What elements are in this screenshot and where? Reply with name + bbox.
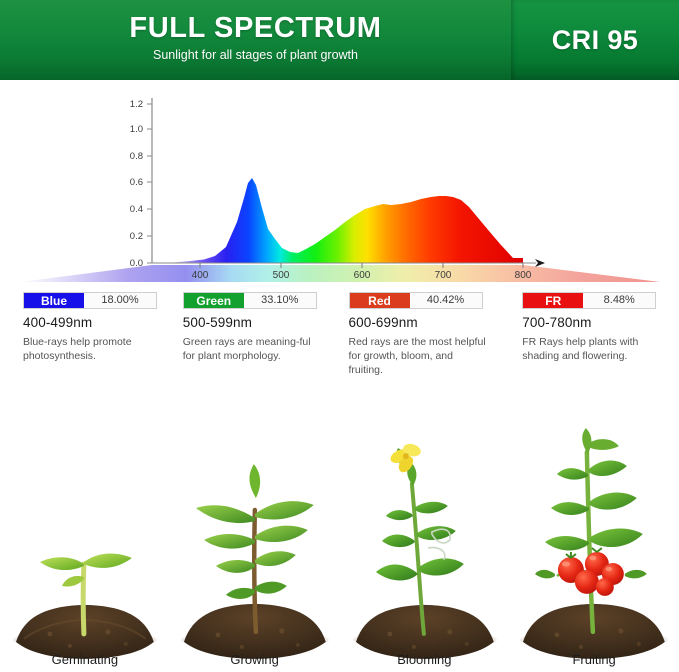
legend-range: 600-699nm [349,316,502,331]
seedling-icon [0,422,170,672]
young-plant-icon [170,422,340,672]
svg-text:0.6: 0.6 [130,177,143,188]
stage-blooming: Blooming [340,372,510,672]
legend-description: Green rays are meaning-ful for plant mor… [183,335,321,363]
badge-percent: 18.00% [84,293,156,308]
stage-fruiting: Fruiting [509,372,679,672]
badge-blue: Blue 18.00% [23,292,157,309]
legend-description: Blue-rays help promote photosynthesis. [23,335,161,363]
stage-label: Blooming [340,653,510,666]
header-banner: FULL SPECTRUM Sunlight for all stages of… [0,0,679,80]
y-axis-ticks: 0.0 0.2 0.4 0.6 0.8 1.0 1.2 [130,99,152,269]
badge-label: Green [184,293,244,308]
header-title-panel: FULL SPECTRUM Sunlight for all stages of… [0,0,511,80]
cri-value: CRI 95 [552,25,638,56]
legend-item-blue: Blue 18.00% 400-499nm Blue-rays help pro… [0,292,170,370]
badge-label: Red [350,293,410,308]
legend-item-red: Red 40.42% 600-699nm Red rays are the mo… [340,292,510,370]
badge-fr: FR 8.48% [522,292,656,309]
badge-label: Blue [24,293,84,308]
wavelength-legend: Blue 18.00% 400-499nm Blue-rays help pro… [0,292,679,370]
legend-item-green: Green 33.10% 500-599nm Green rays are me… [170,292,340,370]
legend-item-fr: FR 8.48% 700-780nm FR Rays help plants w… [509,292,679,370]
stage-geminating: Geminating [0,372,170,672]
page-subtitle: Sunlight for all stages of plant growth [153,49,358,62]
stage-label: Geminating [0,653,170,666]
flowering-plant-icon [340,422,510,672]
svg-text:700: 700 [435,270,452,281]
legend-range: 500-599nm [183,316,332,331]
badge-percent: 33.10% [244,293,316,308]
spectrum-chart: 0.0 0.2 0.4 0.6 0.8 1.0 1.2 400 500 600 … [0,82,679,282]
growth-stages: Geminating [0,372,679,672]
cri-panel: CRI 95 [511,0,679,80]
svg-text:500: 500 [273,270,290,281]
spectrum-wedge [20,265,660,282]
stage-label: Fruiting [509,653,679,666]
stage-label: Growing [170,653,340,666]
svg-text:0.2: 0.2 [130,231,143,242]
svg-text:1.2: 1.2 [130,99,143,110]
svg-text:800: 800 [515,270,532,281]
svg-text:0.8: 0.8 [130,151,143,162]
badge-percent: 8.48% [583,293,655,308]
svg-text:1.0: 1.0 [130,124,143,135]
spectrum-chart-svg: 0.0 0.2 0.4 0.6 0.8 1.0 1.2 400 500 600 … [0,82,679,282]
svg-text:400: 400 [192,270,209,281]
badge-percent: 40.42% [410,293,482,308]
legend-description: FR Rays help plants with shading and flo… [522,335,660,363]
legend-description: Red rays are the most helpful for growth… [349,335,487,378]
svg-text:600: 600 [354,270,371,281]
spectrum-curve [152,102,523,265]
svg-text:0.0: 0.0 [130,258,143,269]
tomato-plant-icon [509,422,679,672]
badge-green: Green 33.10% [183,292,317,309]
legend-range: 400-499nm [23,316,162,331]
stage-growing: Growing [170,372,340,672]
tomato-cluster [558,548,624,596]
svg-text:0.4: 0.4 [130,204,143,215]
badge-label: FR [523,293,583,308]
page-title: FULL SPECTRUM [129,14,381,43]
legend-range: 700-780nm [522,316,671,331]
flower [388,442,422,475]
badge-red: Red 40.42% [349,292,483,309]
